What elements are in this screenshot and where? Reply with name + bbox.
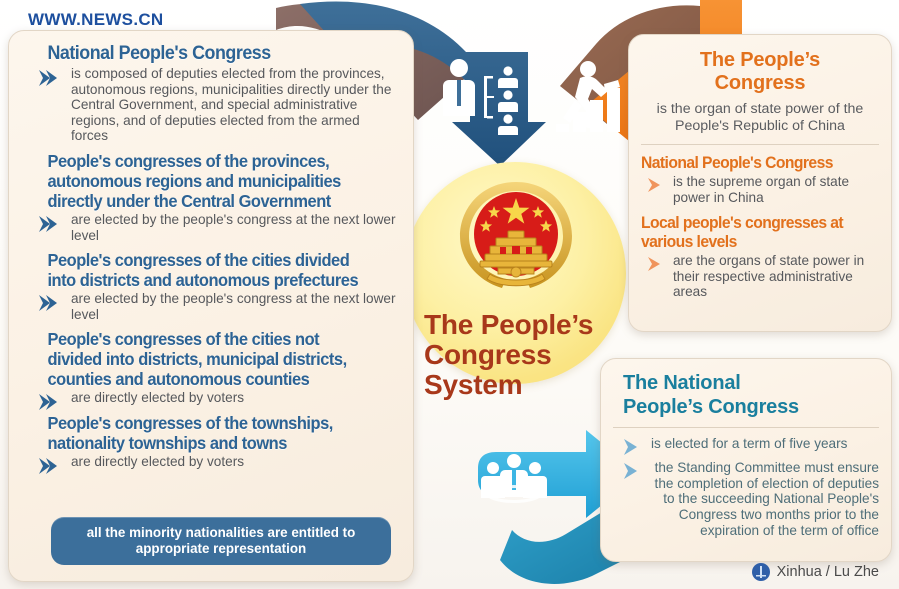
top-right-title: The People’s Congress (629, 35, 891, 95)
top-right-section-row: is the supreme organ of state power in C… (641, 174, 879, 205)
chevron-right-icon (37, 294, 57, 312)
left-section-body: are directly elected by voters (71, 454, 399, 470)
top-right-section-heading: Local people's congresses at various lev… (641, 214, 867, 252)
left-section-heading: National People's Congress (23, 43, 376, 65)
bottom-right-title-line2: People’s Congress (623, 395, 877, 419)
left-section-heading: People's congresses of the provinces, au… (23, 151, 376, 211)
bottom-right-title: The National People’s Congress (601, 359, 891, 419)
credit-line: Xinhua / Lu Zhe (752, 563, 879, 581)
left-section-heading: People's congresses of the cities divide… (23, 250, 376, 290)
top-right-title-line1: The People’s (639, 49, 881, 72)
left-section-body: are elected by the people's congress at … (71, 212, 399, 243)
bottom-right-item: the Standing Committee must ensure the c… (617, 460, 879, 539)
chevron-right-icon (645, 176, 665, 194)
left-section-row: are directly elected by voters (23, 454, 399, 470)
left-section-heading: People's congresses of the cities not di… (23, 329, 376, 389)
left-section-row: are elected by the people's congress at … (23, 212, 399, 243)
center-title-line1: The People’s (424, 310, 634, 340)
chevron-right-icon (37, 393, 57, 411)
top-right-section-row: are the organs of state power in their r… (641, 253, 879, 300)
left-section-heading: People's congresses of the townships, na… (23, 413, 376, 453)
bottom-right-panel: The National People’s Congress is electe… (600, 358, 892, 562)
bottom-right-title-line1: The National (623, 371, 877, 395)
credit-text: Xinhua / Lu Zhe (777, 564, 879, 580)
infographic-canvas: WWW.NEWS.CN (0, 0, 899, 589)
top-right-section-body: is the supreme organ of state power in C… (673, 174, 879, 205)
left-section-row: is composed of deputies elected from the… (23, 66, 399, 144)
bottom-right-item: is elected for a term of five years (617, 436, 879, 452)
bottom-right-item-text: is elected for a term of five years (651, 436, 879, 452)
top-right-section-heading: National People's Congress (641, 154, 867, 173)
left-section-body: are elected by the people's congress at … (71, 291, 399, 322)
top-right-subtitle: is the organ of state power of the Peopl… (629, 95, 891, 144)
top-right-panel: The People’s Congress is the organ of st… (628, 34, 892, 332)
chevron-right-icon (645, 255, 665, 273)
minority-representation-banner: all the minority nationalities are entit… (51, 517, 391, 565)
chevron-right-icon (621, 438, 641, 456)
chevron-right-icon (621, 462, 641, 480)
china-national-emblem-icon (452, 176, 580, 304)
top-right-section-body: are the organs of state power in their r… (673, 253, 879, 300)
left-section-row: are elected by the people's congress at … (23, 291, 399, 322)
left-section-row: are directly elected by voters (23, 390, 399, 406)
chevron-right-icon (37, 457, 57, 475)
left-panel: National People's Congress is composed o… (8, 30, 414, 582)
left-section-body: are directly elected by voters (71, 390, 399, 406)
chevron-right-icon (37, 215, 57, 233)
bottom-right-item-text: the Standing Committee must ensure the c… (651, 460, 879, 539)
top-right-title-line2: Congress (639, 72, 881, 95)
xinhua-logo-icon (752, 563, 770, 581)
site-brand-logo: WWW.NEWS.CN (28, 10, 164, 30)
chevron-right-icon (37, 69, 57, 87)
left-section-body: is composed of deputies elected from the… (71, 66, 399, 144)
